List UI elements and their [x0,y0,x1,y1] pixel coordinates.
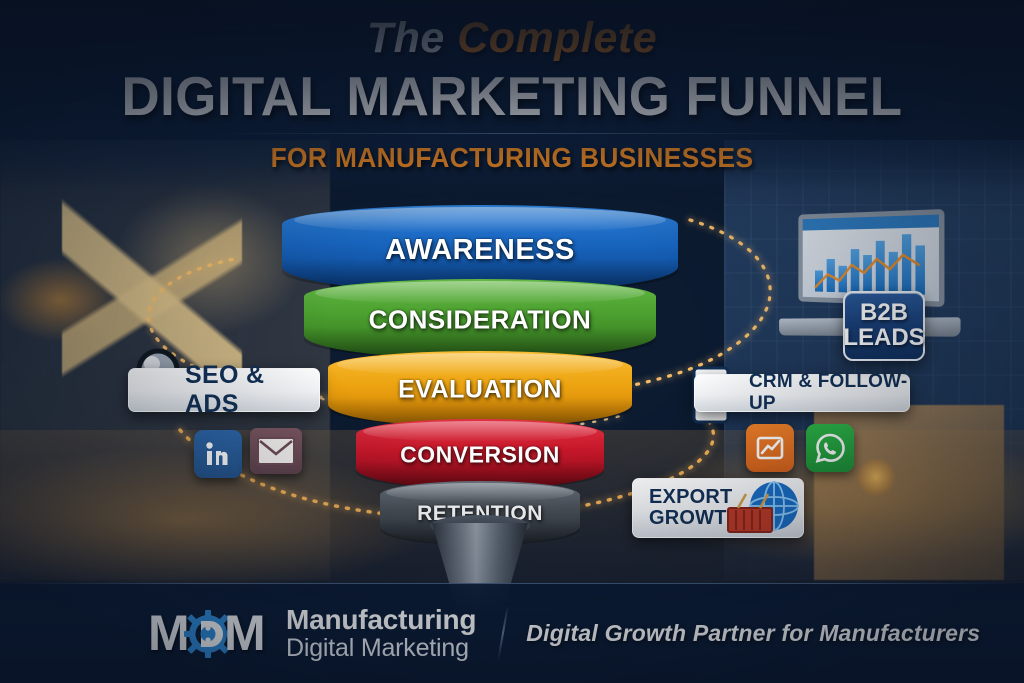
badge-seo-ads[interactable]: SEO & ADS [128,368,320,412]
badge-b2b-line1: B2B [860,301,908,326]
funnel-stage-label: EVALUATION [328,376,632,405]
title-line-1: The Complete [0,16,1024,62]
stage-rim [363,421,596,442]
footer: M [0,583,1024,683]
footer-divider [0,583,1024,584]
brand-line-1: Manufacturing [286,605,476,634]
brand-name: Manufacturing Digital Marketing [286,605,476,660]
badge-b2b-leads[interactable]: B2B LEADS [843,291,925,361]
title-subtitle: FOR MANUFACTURING BUSINESSES [31,142,994,174]
analytics-icon[interactable] [746,424,794,472]
badge-b2b-line2: LEADS [843,326,924,351]
badge-crm-label: CRM & FOLLOW-UP [749,371,909,415]
stage-rim [315,281,646,305]
whatsapp-icon[interactable] [806,424,854,472]
title-divider [212,133,812,134]
funnel-stage-conversion[interactable]: CONVERSION [356,419,604,489]
tagline: Digital Growth Partner for Manufacturers [526,620,980,647]
marketing-funnel: AWARENESS CONSIDERATION EVALUATION CONVE… [282,205,678,575]
title-complete: Complete [457,14,657,62]
stage-rim [386,483,574,502]
linkedin-icon[interactable] [194,430,242,478]
stage-rim [337,353,623,376]
funnel-stage-label: AWARENESS [282,234,678,267]
badge-seo-ads-label: SEO & ADS [185,361,319,419]
infographic-poster: The Complete DIGITAL MARKETING FUNNEL FO… [0,0,1024,683]
header: The Complete DIGITAL MARKETING FUNNEL FO… [0,0,1024,190]
funnel-stage-consideration[interactable]: CONSIDERATION [304,279,656,359]
brand-line-2: Digital Marketing [286,635,476,661]
footer-separator [498,606,510,660]
funnel-stage-label: CONSIDERATION [304,305,656,336]
logo-letter-right: M [224,608,265,658]
globe-container-icon [716,480,804,538]
mdm-logo: M [148,604,272,662]
funnel-stage-label: CONVERSION [356,442,604,469]
title-main: DIGITAL MARKETING FUNNEL [20,67,1003,126]
logo-letter-left: M [148,608,189,658]
funnel-stage-evaluation[interactable]: EVALUATION [328,351,632,427]
email-icon[interactable] [250,428,302,474]
title-the: The [367,14,445,62]
badge-crm-followup[interactable]: CRM & FOLLOW-UP [694,374,910,412]
